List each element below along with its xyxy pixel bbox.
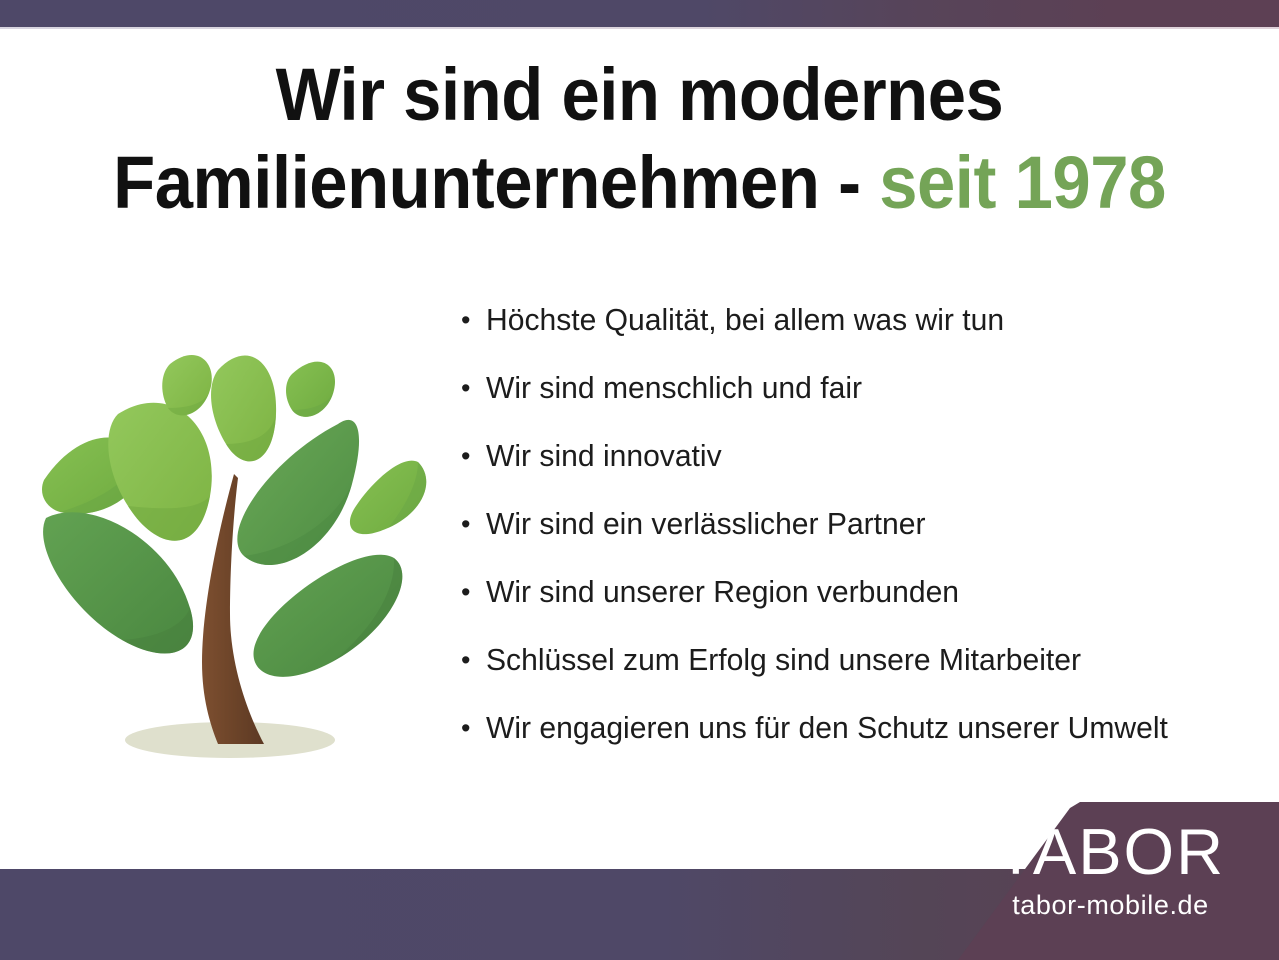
bullet-marker-icon: •: [455, 708, 486, 748]
bullet-marker-icon: •: [455, 640, 486, 680]
bullet-text: Höchste Qualität, bei allem was wir tun: [486, 300, 1004, 340]
bullet-text: Schlüssel zum Erfolg sind unsere Mitarbe…: [486, 640, 1081, 680]
bullet-marker-icon: •: [455, 368, 486, 408]
bullet-text: Wir sind unserer Region verbunden: [486, 572, 959, 612]
list-item: • Wir sind menschlich und fair: [455, 368, 1275, 436]
list-item: • Wir sind innovativ: [455, 436, 1275, 504]
leaf-upper-left: [108, 403, 212, 541]
bullet-text: Wir sind ein verlässlicher Partner: [486, 504, 926, 544]
page-title: Wir sind ein modernes Familienunternehme…: [0, 52, 1279, 226]
logo-wordmark: TABOR: [958, 818, 1263, 886]
bullet-marker-icon: •: [455, 436, 486, 476]
leaf-right-small: [350, 461, 426, 535]
tree-illustration: [22, 332, 452, 772]
logo-url: tabor-mobile.de: [958, 888, 1263, 922]
bullet-marker-icon: •: [455, 572, 486, 612]
list-item: • Höchste Qualität, bei allem was wir tu…: [455, 300, 1275, 368]
bullet-marker-icon: •: [455, 300, 486, 340]
title-line-2-main: Familienunternehmen -: [113, 141, 879, 224]
list-item: • Wir sind unserer Region verbunden: [455, 572, 1275, 640]
bullet-list: • Höchste Qualität, bei allem was wir tu…: [455, 300, 1275, 776]
title-line-1: Wir sind ein modernes: [45, 52, 1234, 138]
title-line-2: Familienunternehmen - seit 1978: [45, 140, 1234, 226]
top-accent-bar-hairline: [0, 27, 1279, 29]
list-item: • Schlüssel zum Erfolg sind unsere Mitar…: [455, 640, 1275, 708]
bullet-text: Wir engagieren uns für den Schutz unsere…: [486, 708, 1168, 748]
top-accent-bar: [0, 0, 1279, 27]
bullet-marker-icon: •: [455, 504, 486, 544]
list-item: • Wir sind ein verlässlicher Partner: [455, 504, 1275, 572]
tree-svg: [22, 332, 452, 772]
leaf-top-small-left: [162, 355, 212, 415]
bullet-text: Wir sind innovativ: [486, 436, 722, 476]
slide-canvas: Wir sind ein modernes Familienunternehme…: [0, 0, 1279, 960]
title-accent-year: seit 1978: [879, 141, 1166, 224]
leaf-top-small-right: [286, 362, 335, 417]
leaf-lower-right: [253, 555, 402, 677]
leaf-top-center: [211, 356, 276, 462]
list-item: • Wir engagieren uns für den Schutz unse…: [455, 708, 1275, 776]
bullet-text: Wir sind menschlich und fair: [486, 368, 862, 408]
brand-logo: TABOR tabor-mobile.de: [958, 818, 1263, 922]
